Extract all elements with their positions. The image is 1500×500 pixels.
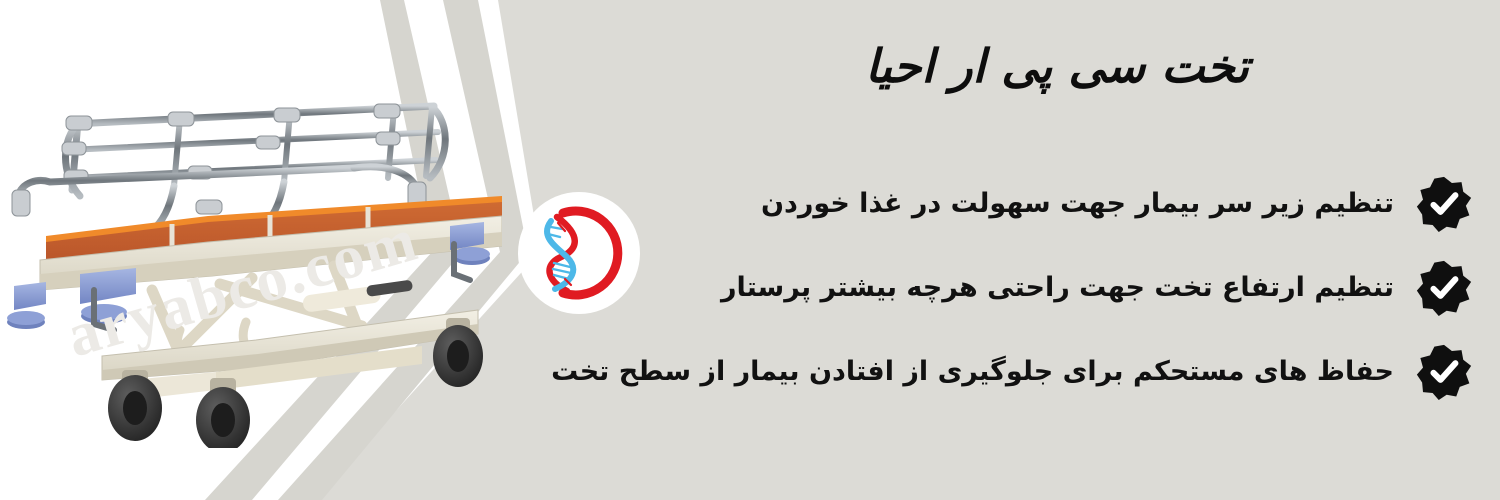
page-title: تخت سی پی ار احیا	[792, 38, 1322, 96]
feature-label: تنظیم ارتفاع تخت جهت راحتی هرچه بیشتر پر…	[721, 270, 1394, 306]
promo-banner: aryabco.com	[0, 0, 1500, 500]
feature-item: تنظیم زیر سر بیمار جهت سهولت در غذا خورد…	[392, 176, 1472, 232]
check-badge-icon	[1416, 176, 1472, 232]
check-badge-icon	[1416, 344, 1472, 400]
feature-list: تنظیم زیر سر بیمار جهت سهولت در غذا خورد…	[392, 176, 1472, 400]
feature-item: حفاظ های مستحکم برای جلوگیری از افتادن ب…	[392, 344, 1472, 400]
feature-item: تنظیم ارتفاع تخت جهت راحتی هرچه بیشتر پر…	[392, 260, 1472, 316]
feature-label: تنظیم زیر سر بیمار جهت سهولت در غذا خورد…	[761, 186, 1394, 222]
feature-label: حفاظ های مستحکم برای جلوگیری از افتادن ب…	[551, 354, 1394, 390]
check-badge-icon	[1416, 260, 1472, 316]
